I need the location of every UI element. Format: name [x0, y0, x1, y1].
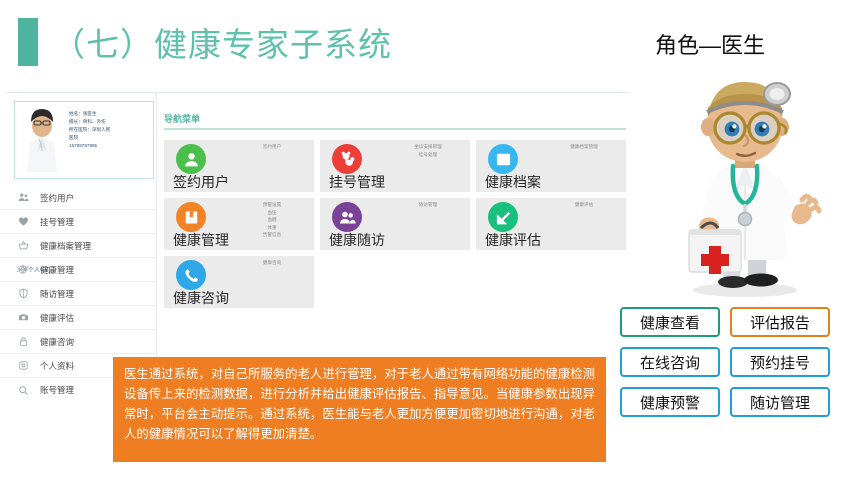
sidebar-item-label: 健康咨询 — [40, 336, 74, 348]
nav-card-sublabels: 签约用户 — [240, 143, 304, 151]
profile-hospital-cont: 医院 — [69, 134, 110, 142]
group-icon — [332, 202, 362, 232]
phone-icon — [176, 260, 206, 290]
feature-button-grid: 健康查看 评估报告 在线咨询 预约挂号 健康预警 随访管理 — [620, 307, 844, 417]
nav-card-health-assessment[interactable]: 健康评估 健康评估 — [476, 198, 626, 250]
button-label: 预约挂号 — [750, 352, 810, 373]
nav-card-title: 签约用户 — [173, 172, 229, 192]
doctor-icon — [332, 144, 362, 174]
button-health-view[interactable]: 健康查看 — [620, 307, 720, 337]
people-icon — [12, 192, 34, 203]
nav-card-registration[interactable]: 挂号管理 坐诊安排管理 挂号处理 — [320, 140, 470, 192]
nav-card-sublabel: 健康档案管理 — [552, 143, 616, 151]
title-text: （七）健康专家子系统 — [52, 18, 392, 66]
nav-heading: 导航菜单 — [164, 112, 200, 125]
nav-card-sublabel: 血压 — [240, 209, 304, 217]
button-label: 随访管理 — [750, 392, 810, 413]
main-panel: 导航菜单 签约用户 签约用户 挂号管理 坐诊安排管理 — [160, 92, 630, 392]
nav-card-sublabels: 健康档案管理 — [552, 143, 616, 151]
nav-card-sublabel: 坐诊安排管理 — [396, 143, 460, 151]
sidebar-item-health-management[interactable]: 健康管理 — [0, 258, 156, 282]
sidebar-divider — [156, 92, 157, 392]
nav-card-sublabels: 健康评估 — [552, 201, 616, 209]
nav-card-title: 健康管理 — [173, 230, 229, 250]
nav-card-title: 健康随访 — [329, 230, 385, 250]
sidebar-item-health-consult[interactable]: 健康咨询 — [0, 330, 156, 354]
nav-card-sublabels: 随访管理 — [396, 201, 460, 209]
nav-card-sublabel: 随访管理 — [396, 201, 460, 209]
sidebar-item-health-assessment[interactable]: 健康评估 — [0, 306, 156, 330]
nav-card-sublabel: 血糖 — [240, 216, 304, 224]
button-label: 评估报告 — [750, 312, 810, 333]
nav-card-sublabel: 预警设置 — [240, 201, 304, 209]
nav-card-sublabel: 健康评估 — [552, 201, 616, 209]
camera-icon — [12, 312, 34, 323]
button-health-alert[interactable]: 健康预警 — [620, 387, 720, 417]
globe-check-icon — [12, 264, 34, 275]
profile-hospital: 所在医院：深圳人民 — [69, 126, 110, 134]
profile-details: 姓名：张医生 擅长：骨科、外伤 所在医院：深圳人民 医院 15789787885 — [69, 106, 110, 174]
sidebar-item-label: 健康评估 — [40, 312, 74, 324]
sidebar-item-label: 随访管理 — [40, 288, 74, 300]
nav-card-sublabel: 签约用户 — [240, 143, 304, 151]
nav-card-title: 健康评估 — [485, 230, 541, 250]
button-followup[interactable]: 随访管理 — [730, 387, 830, 417]
nav-card-sublabel: 挂号处理 — [396, 151, 460, 159]
nav-card-sublabel: 告警信息 — [240, 231, 304, 239]
nav-card-title: 健康咨询 — [173, 288, 229, 308]
nav-card-sublabels: 预警设置 血压 血糖 体重 告警信息 — [240, 201, 304, 239]
title-accent-bar — [18, 18, 38, 66]
nav-card-health-consult[interactable]: 健康咨询 健康咨询 — [164, 256, 314, 308]
button-label: 健康预警 — [640, 392, 700, 413]
button-assessment-report[interactable]: 评估报告 — [730, 307, 830, 337]
nav-card-health-followup[interactable]: 健康随访 随访管理 — [320, 198, 470, 250]
sidebar-item-followup[interactable]: 随访管理 — [0, 282, 156, 306]
nav-card-sublabels: 健康咨询 — [240, 259, 304, 267]
edit-icon — [488, 202, 518, 232]
nav-card-health-records[interactable]: 健康档案 健康档案管理 — [476, 140, 626, 192]
button-label: 在线咨询 — [640, 352, 700, 373]
role-label: 角色—医生 — [655, 28, 765, 60]
nav-card-grid: 签约用户 签约用户 挂号管理 坐诊安排管理 挂号处理 — [164, 140, 628, 308]
sidebar-item-label: 健康档案管理 — [40, 240, 91, 252]
profile-card: 姓名：张医生 擅长：骨科、外伤 所在医院：深圳人民 医院 15789787885 — [14, 101, 154, 179]
button-label: 健康查看 — [640, 312, 700, 333]
cartoon-doctor-illustration — [645, 72, 845, 300]
heart-icon — [12, 216, 34, 227]
sidebar-item-label: 个人资料 — [40, 360, 74, 372]
idcard-icon — [488, 144, 518, 174]
nav-card-sublabel: 体重 — [240, 224, 304, 232]
clock-icon — [12, 360, 34, 371]
nav-card-health-management[interactable]: 健康管理 预警设置 血压 血糖 体重 告警信息 — [164, 198, 314, 250]
sidebar-item-signed-users[interactable]: 签约用户 — [0, 186, 156, 210]
sidebar-item-label: 健康管理 — [40, 264, 74, 276]
sidebar-item-label: 账号管理 — [40, 384, 74, 396]
page-title: （七）健康专家子系统 — [18, 18, 392, 66]
avatar — [19, 106, 65, 172]
sidebar-item-label: 挂号管理 — [40, 216, 74, 228]
profile-phone: 15789787885 — [69, 142, 110, 150]
search-icon — [12, 385, 34, 396]
nav-card-title: 健康档案 — [485, 172, 541, 192]
sidebar-item-registration[interactable]: 挂号管理 — [0, 210, 156, 234]
lock-icon — [12, 336, 34, 347]
button-appointment[interactable]: 预约挂号 — [730, 347, 830, 377]
profile-name: 姓名：张医生 — [69, 110, 110, 118]
nav-card-signed-users[interactable]: 签约用户 签约用户 — [164, 140, 314, 192]
nav-card-title: 挂号管理 — [329, 172, 385, 192]
sidebar-item-health-records[interactable]: 健康档案管理 — [0, 234, 156, 258]
profile-skill: 擅长：骨科、外伤 — [69, 118, 110, 126]
shield-icon — [12, 288, 34, 299]
nav-heading-rule — [164, 128, 626, 130]
button-online-consult[interactable]: 在线咨询 — [620, 347, 720, 377]
nav-card-sublabel: 健康咨询 — [240, 259, 304, 267]
basket-icon — [12, 240, 34, 251]
nav-card-sublabels: 坐诊安排管理 挂号处理 — [396, 143, 460, 158]
sidebar-item-label: 签约用户 — [40, 192, 74, 204]
description-callout: 医生通过系统，对自己所服务的老人进行管理，对于老人通过带有网络功能的健康检测设备… — [113, 357, 606, 462]
book-icon — [176, 202, 206, 232]
person-icon — [176, 144, 206, 174]
